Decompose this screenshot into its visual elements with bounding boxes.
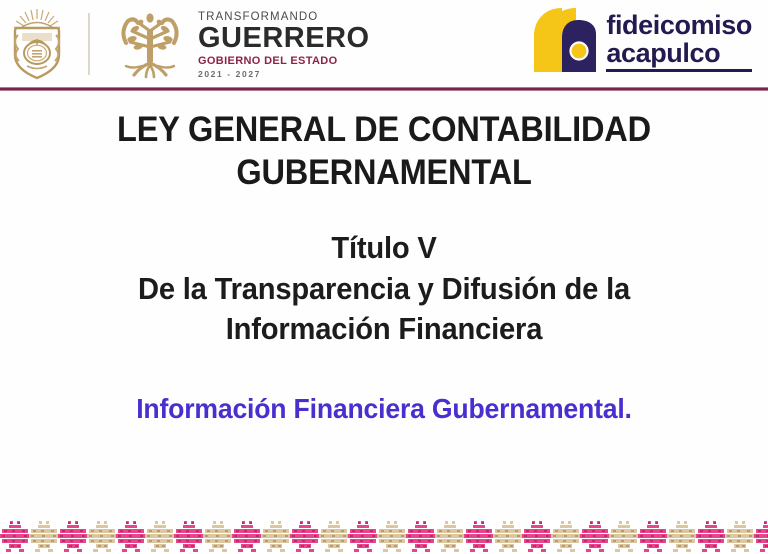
slide-header: TRANSFORMANDO GUERRERO GOBIERNO DEL ESTA… <box>0 0 768 88</box>
fideicomiso-acapulco-wordmark: fideicomiso acapulco <box>606 6 752 72</box>
wordmark-fideicomiso: fideicomiso <box>606 12 752 40</box>
wordmark-years: 2021 - 2027 <box>198 70 370 79</box>
page-subtitle-line-2: De la Transparencia y Difusión de la <box>23 269 745 309</box>
fideicomiso-acapulco-mark-icon <box>532 6 598 74</box>
wordmark-underline <box>606 69 752 72</box>
guerrero-wordmark: TRANSFORMANDO GUERRERO GOBIERNO DEL ESTA… <box>198 10 370 79</box>
fideicomiso-acapulco-logo: fideicomiso acapulco <box>532 6 752 74</box>
cross-stitch-border-pattern <box>0 518 768 554</box>
header-left-logos: TRANSFORMANDO GUERRERO GOBIERNO DEL ESTA… <box>0 4 370 84</box>
page-title: LEY GENERAL DE CONTABILIDAD GUBERNAMENTA… <box>27 109 741 194</box>
page-subtitle-line-3: Información Financiera <box>23 309 745 349</box>
page-subtitle-line-1: Título V <box>23 228 745 268</box>
page-title-line-2: GUBERNAMENTAL <box>27 152 741 195</box>
page-subtitle: Título V De la Transparencia y Difusión … <box>23 228 745 349</box>
page-title-line-1: LEY GENERAL DE CONTABILIDAD <box>27 109 741 152</box>
slide-root: TRANSFORMANDO GUERRERO GOBIERNO DEL ESTA… <box>0 0 768 554</box>
wordmark-guerrero: GUERRERO <box>198 25 370 53</box>
header-horizontal-rule <box>0 87 768 91</box>
transformando-guerrero-tree-icon <box>108 9 192 79</box>
guerrero-coat-of-arms-icon <box>8 7 66 81</box>
wordmark-gobierno-del-estado: GOBIERNO DEL ESTADO <box>198 56 370 67</box>
wordmark-acapulco: acapulco <box>606 40 752 68</box>
highlight-text: Información Financiera Gubernamental. <box>19 393 749 425</box>
slide-content: LEY GENERAL DE CONTABILIDAD GUBERNAMENTA… <box>0 95 768 425</box>
header-logo-divider <box>88 13 90 75</box>
